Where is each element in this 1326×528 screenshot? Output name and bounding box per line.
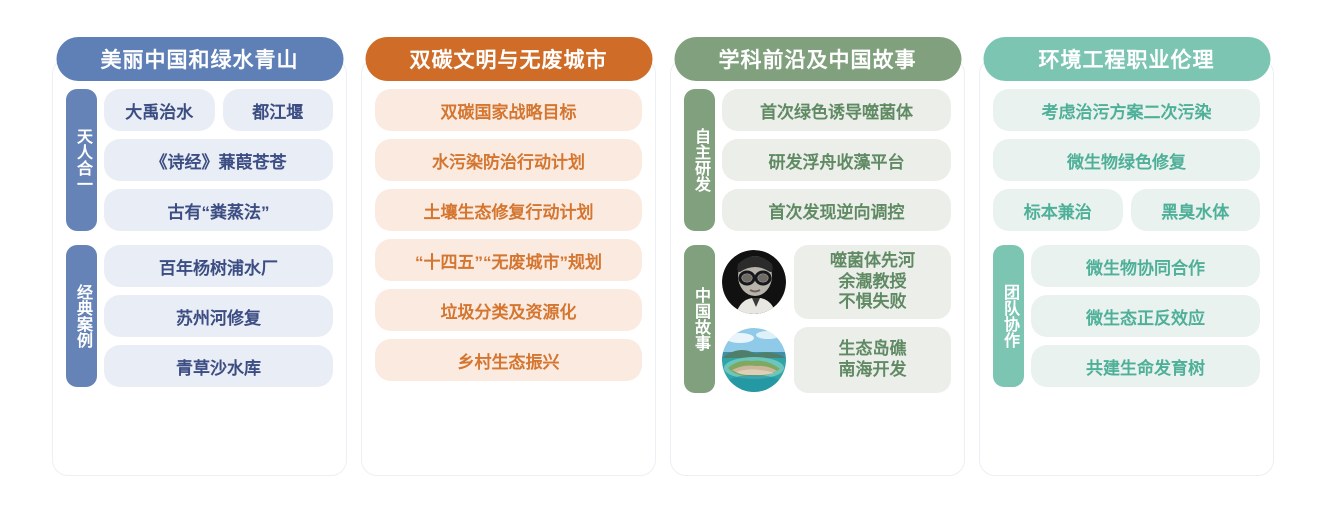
pill-stack: 首次绿色诱导噬菌体 研发浮舟收藻平台 首次发现逆向调控 (722, 89, 951, 231)
pill-row: 青草沙水库 (104, 345, 333, 387)
pill-row: 首次绿色诱导噬菌体 (722, 89, 951, 131)
island-reef-photo (722, 328, 786, 392)
pill-row: 标本兼治 黑臭水体 (993, 189, 1260, 231)
pill-row: 土壤生态修复行动计划 (375, 189, 642, 231)
pill-row: 微生物绿色修复 (993, 139, 1260, 181)
pill-suzhou-river-restoration[interactable]: 苏州河修复 (104, 295, 333, 337)
portrait-scholar-photo (722, 250, 786, 314)
pill-145-zero-waste-city[interactable]: “十四五”“无废城市”规划 (375, 239, 642, 281)
course-modules-board: 美丽中国和绿水青山 天人合一 大禹治水 都江堰 《诗经》蒹葭苍苍 古有“粪蒸法”… (0, 0, 1326, 528)
pill-fenzhengfa[interactable]: 古有“粪蒸法” (104, 189, 333, 231)
island-line-2: 南海开发 (839, 360, 907, 381)
group-team-collaboration: 团队协作 微生物协同合作 微生态正反效应 共建生命发育树 (993, 245, 1260, 387)
pill-microbial-cooperation[interactable]: 微生物协同合作 (1031, 245, 1260, 287)
pill-stack: 微生物协同合作 微生态正反效应 共建生命发育树 (1031, 245, 1260, 387)
pill-row: 水污染防治行动计划 (375, 139, 642, 181)
group-label-tian-ren-he-yi: 天人合一 (66, 89, 97, 231)
pill-tree-of-life[interactable]: 共建生命发育树 (1031, 345, 1260, 387)
media-row-island: 生态岛礁 南海开发 (722, 327, 951, 393)
pill-row: 首次发现逆向调控 (722, 189, 951, 231)
pill-row: 乡村生态振兴 (375, 339, 642, 381)
pill-stack: 双碳国家战略目标 水污染防治行动计划 土壤生态修复行动计划 “十四五”“无废城市… (375, 89, 642, 381)
column-header-env-ethics: 环境工程职业伦理 (983, 37, 1270, 81)
pill-soil-restoration-plan[interactable]: 土壤生态修复行动计划 (375, 189, 642, 231)
pill-root-and-symptom[interactable]: 标本兼治 (993, 189, 1123, 231)
pill-reverse-regulation[interactable]: 首次发现逆向调控 (722, 189, 951, 231)
pill-row: 共建生命发育树 (1031, 345, 1260, 387)
column-header-beautiful-china: 美丽中国和绿水青山 (56, 37, 343, 81)
pill-dual-carbon-goal[interactable]: 双碳国家战略目标 (375, 89, 642, 131)
spacer (375, 395, 642, 457)
column-header-dual-carbon: 双碳文明与无废城市 (365, 37, 652, 81)
pill-water-pollution-plan[interactable]: 水污染防治行动计划 (375, 139, 642, 181)
column-dual-carbon: 双碳文明与无废城市 双碳国家战略目标 水污染防治行动计划 土壤生态修复行动计划 … (361, 58, 656, 476)
pill-dujiangyan[interactable]: 都江堰 (223, 89, 334, 131)
scholar-line-3: 不惧失败 (839, 292, 907, 313)
pill-row: 古有“粪蒸法” (104, 189, 333, 231)
pill-shijing-jianjia[interactable]: 《诗经》蒹葭苍苍 (104, 139, 333, 181)
pill-stack: 考虑治污方案二次污染 微生物绿色修复 标本兼治 黑臭水体 (993, 89, 1260, 231)
group-jingdian-anli: 经典案例 百年杨树浦水厂 苏州河修复 青草沙水库 (66, 245, 333, 387)
pill-row: 百年杨树浦水厂 (104, 245, 333, 287)
pill-stack: 百年杨树浦水厂 苏州河修复 青草沙水库 (104, 245, 333, 387)
group-label-independent-rd: 自主研发 (684, 89, 715, 231)
group-env-ethics-topics: 考虑治污方案二次污染 微生物绿色修复 标本兼治 黑臭水体 (993, 89, 1260, 231)
pill-row: 大禹治水 都江堰 (104, 89, 333, 131)
pill-black-odorous-water[interactable]: 黑臭水体 (1131, 189, 1261, 231)
media-text-scholar[interactable]: 噬菌体先河 余㵾教授 不惧失败 (794, 245, 951, 319)
pill-row: 垃圾分类及资源化 (375, 289, 642, 331)
column-header-frontier-china-story: 学科前沿及中国故事 (674, 37, 961, 81)
pill-row: 考虑治污方案二次污染 (993, 89, 1260, 131)
pill-microecology-effects[interactable]: 微生态正反效应 (1031, 295, 1260, 337)
pill-row: 双碳国家战略目标 (375, 89, 642, 131)
pill-microbial-green-remediation[interactable]: 微生物绿色修复 (993, 139, 1260, 181)
group-label-jingdian-anli: 经典案例 (66, 245, 97, 387)
pill-waste-sorting[interactable]: 垃圾分类及资源化 (375, 289, 642, 331)
scholar-line-2: 余㵾教授 (839, 272, 907, 293)
column-env-ethics: 环境工程职业伦理 考虑治污方案二次污染 微生物绿色修复 标本兼治 黑臭水体 团队… (979, 58, 1274, 476)
pill-row: 微生态正反效应 (1031, 295, 1260, 337)
group-china-story: 中国故事 (684, 245, 951, 393)
scholar-line-1: 噬菌体先河 (830, 251, 915, 272)
spacer (66, 401, 333, 457)
pill-yangshupu-waterworks[interactable]: 百年杨树浦水厂 (104, 245, 333, 287)
media-text-island[interactable]: 生态岛礁 南海开发 (794, 327, 951, 393)
pill-rural-eco-revitalization[interactable]: 乡村生态振兴 (375, 339, 642, 381)
pill-qingcaosha-reservoir[interactable]: 青草沙水库 (104, 345, 333, 387)
pill-row: 微生物协同合作 (1031, 245, 1260, 287)
group-tian-ren-he-yi: 天人合一 大禹治水 都江堰 《诗经》蒹葭苍苍 古有“粪蒸法” (66, 89, 333, 231)
column-beautiful-china: 美丽中国和绿水青山 天人合一 大禹治水 都江堰 《诗经》蒹葭苍苍 古有“粪蒸法”… (52, 58, 347, 476)
media-row-scholar: 噬菌体先河 余㵾教授 不惧失败 (722, 245, 951, 319)
pill-secondary-pollution[interactable]: 考虑治污方案二次污染 (993, 89, 1260, 131)
group-label-china-story: 中国故事 (684, 245, 715, 393)
group-dual-carbon-topics: 双碳国家战略目标 水污染防治行动计划 土壤生态修复行动计划 “十四五”“无废城市… (375, 89, 642, 381)
spacer (993, 401, 1260, 457)
group-independent-rd: 自主研发 首次绿色诱导噬菌体 研发浮舟收藻平台 首次发现逆向调控 (684, 89, 951, 231)
group-label-team-collaboration: 团队协作 (993, 245, 1024, 387)
spacer (684, 407, 951, 457)
media-stack: 噬菌体先河 余㵾教授 不惧失败 (722, 245, 951, 393)
pill-row: “十四五”“无废城市”规划 (375, 239, 642, 281)
pill-green-induced-phage[interactable]: 首次绿色诱导噬菌体 (722, 89, 951, 131)
column-frontier-china-story: 学科前沿及中国故事 自主研发 首次绿色诱导噬菌体 研发浮舟收藻平台 首次发现逆向… (670, 58, 965, 476)
island-line-1: 生态岛礁 (839, 339, 907, 360)
pill-dayu-zhishui[interactable]: 大禹治水 (104, 89, 215, 131)
pill-row: 研发浮舟收藻平台 (722, 139, 951, 181)
pill-stack: 大禹治水 都江堰 《诗经》蒹葭苍苍 古有“粪蒸法” (104, 89, 333, 231)
pill-floating-algae-platform[interactable]: 研发浮舟收藻平台 (722, 139, 951, 181)
pill-row: 《诗经》蒹葭苍苍 (104, 139, 333, 181)
pill-row: 苏州河修复 (104, 295, 333, 337)
